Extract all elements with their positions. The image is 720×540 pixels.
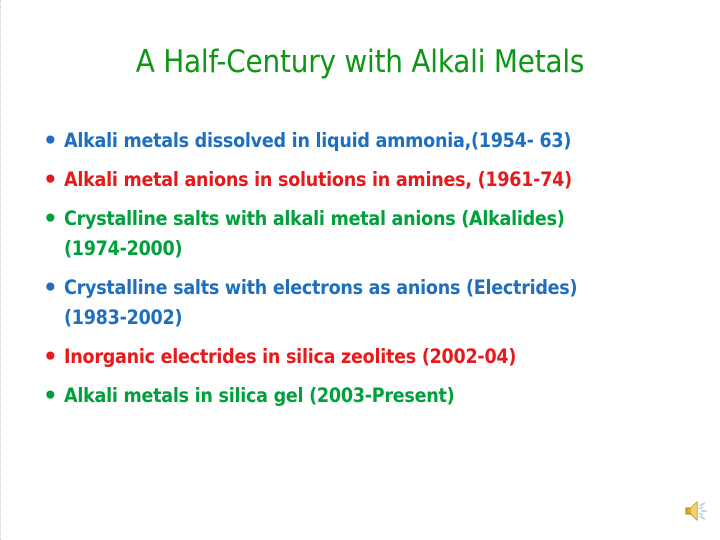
slide-left-edge-rule — [0, 0, 1, 540]
list-item-label: Crystalline salts with electrons as anio… — [64, 273, 698, 333]
bullet-dot-icon: • — [38, 273, 64, 303]
list-item-label: Inorganic electrides in silica zeolites … — [64, 342, 698, 372]
list-item-label: Crystalline salts with alkali metal anio… — [64, 204, 698, 264]
page-title: A Half-Century with Alkali Metals — [0, 44, 720, 80]
list-item: • Alkali metals dissolved in liquid ammo… — [38, 126, 698, 156]
bullet-dot-icon: • — [38, 165, 64, 195]
speaker-sound-icon[interactable] — [682, 497, 710, 525]
list-item-label: Alkali metal anions in solutions in amin… — [64, 165, 698, 195]
list-item-label: Alkali metals dissolved in liquid ammoni… — [64, 126, 698, 156]
presentation-slide: A Half-Century with Alkali Metals • Alka… — [0, 0, 720, 540]
bullet-list: • Alkali metals dissolved in liquid ammo… — [38, 126, 698, 420]
bullet-dot-icon: • — [38, 126, 64, 156]
bullet-dot-icon: • — [38, 342, 64, 372]
bullet-dot-icon: • — [38, 204, 64, 234]
list-item: • Crystalline salts with alkali metal an… — [38, 204, 698, 264]
speaker-sound-icon-glyph — [682, 497, 710, 525]
bullet-dot-icon: • — [38, 381, 64, 411]
list-item: • Inorganic electrides in silica zeolite… — [38, 342, 698, 372]
list-item: • Alkali metals in silica gel (2003-Pres… — [38, 381, 698, 411]
list-item-label: Alkali metals in silica gel (2003-Presen… — [64, 381, 698, 411]
list-item: • Crystalline salts with electrons as an… — [38, 273, 698, 333]
list-item: • Alkali metal anions in solutions in am… — [38, 165, 698, 195]
